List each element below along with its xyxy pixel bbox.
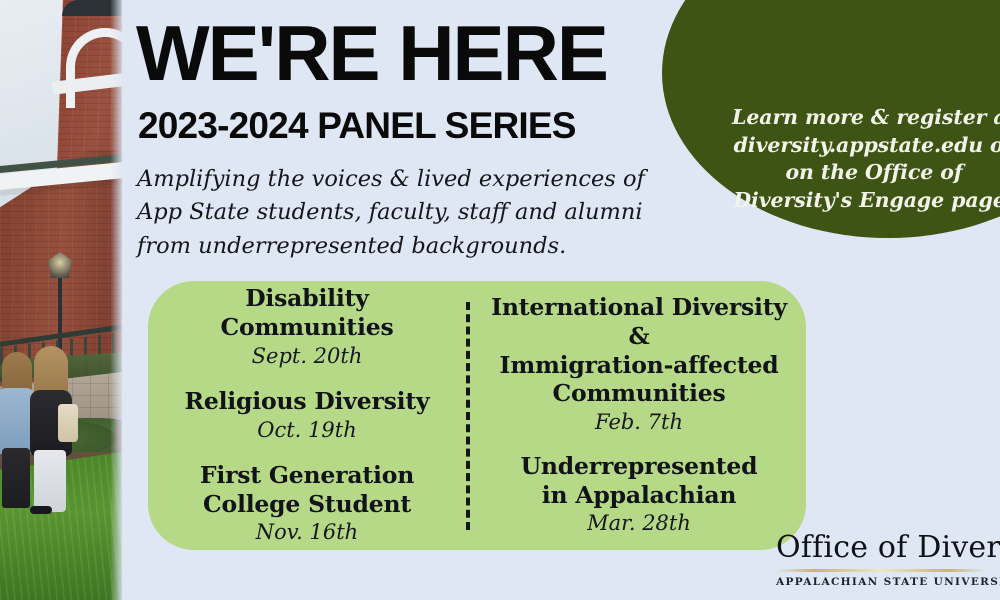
page-title: WE'RE HERE	[136, 14, 607, 94]
event-title: Underrepresentedin Appalachian	[521, 452, 758, 509]
register-badge-text: Learn more & register at diversity.appst…	[724, 104, 1000, 238]
event-item: Religious Diversity Oct. 19th	[184, 387, 429, 444]
schedule-column-left: Disability Communities Sept. 20th Religi…	[148, 281, 466, 550]
description-line: from underrepresented backgrounds.	[137, 230, 657, 263]
event-item: Underrepresentedin Appalachian Mar. 28th	[521, 452, 758, 538]
event-item: First GenerationCollege Student Nov. 16t…	[200, 461, 414, 547]
logo-divider-rule	[776, 569, 986, 572]
description-line: Amplifying the voices & lived experience…	[137, 163, 657, 196]
event-title: First GenerationCollege Student	[200, 461, 414, 518]
event-date: Oct. 19th	[184, 417, 429, 444]
flyer-canvas: Learn more & register at diversity.appst…	[0, 0, 1000, 600]
schedule-column-right: International Diversity &Immigration-aff…	[466, 281, 806, 550]
schedule-panel: Disability Communities Sept. 20th Religi…	[148, 281, 806, 550]
description-text: Amplifying the voices & lived experience…	[137, 163, 657, 263]
description-line: App State students, faculty, staff and a…	[137, 196, 657, 229]
column-divider	[466, 302, 470, 530]
student-legs	[34, 450, 66, 512]
office-of-diversity-logo: Office of Diversity APPALACHIAN STATE UN…	[776, 532, 986, 588]
event-item: Disability Communities Sept. 20th	[156, 284, 458, 370]
logo-title: Office of Diversity	[776, 532, 986, 564]
student-shoe	[30, 506, 52, 514]
page-subtitle: 2023-2024 PANEL SERIES	[138, 105, 576, 147]
event-date: Nov. 16th	[200, 519, 414, 546]
event-date: Mar. 28th	[521, 510, 758, 537]
event-item: International Diversity &Immigration-aff…	[480, 293, 798, 436]
event-title: Disability Communities	[156, 284, 458, 341]
event-date: Sept. 20th	[156, 343, 458, 370]
campus-photo-strip	[0, 0, 122, 600]
schedule-columns: Disability Communities Sept. 20th Religi…	[148, 281, 806, 550]
event-title: Religious Diversity	[184, 387, 429, 416]
photo-edge-fade	[110, 0, 122, 600]
tote-bag	[58, 404, 78, 442]
register-badge: Learn more & register at diversity.appst…	[662, 0, 1000, 238]
event-date: Feb. 7th	[480, 409, 798, 436]
student-figure-right	[26, 346, 82, 516]
logo-subtitle: APPALACHIAN STATE UNIVERSITY®	[776, 576, 986, 588]
event-title: International Diversity &Immigration-aff…	[480, 293, 798, 408]
